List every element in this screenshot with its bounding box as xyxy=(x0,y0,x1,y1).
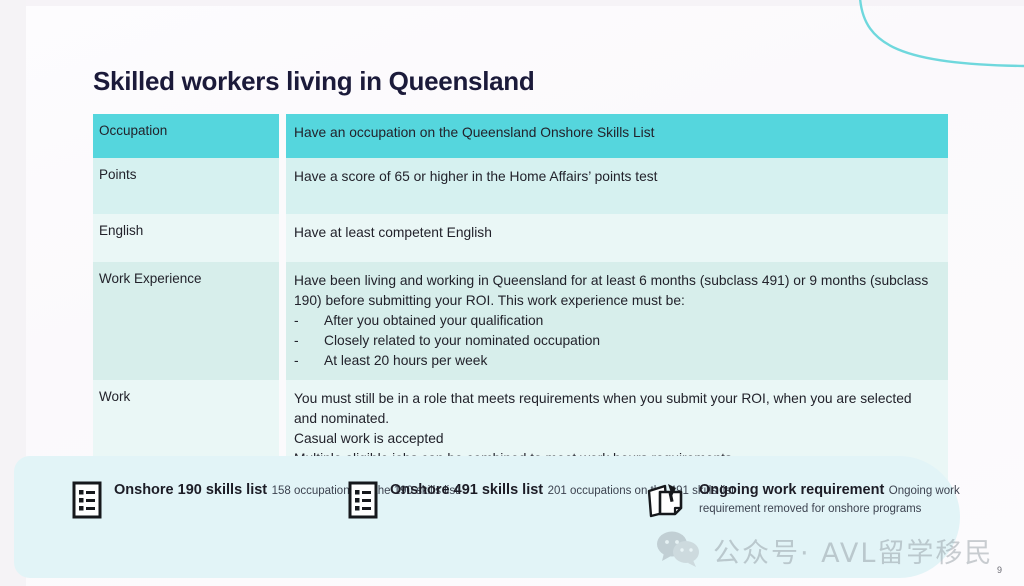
bullet-dash-icon: - xyxy=(294,331,324,351)
row-label: Work Experience xyxy=(93,262,279,380)
value-line: Casual work is accepted xyxy=(294,429,938,449)
value-line: Have an occupation on the Queensland Ons… xyxy=(294,123,938,143)
feature-heading: Onshore 491 skills list xyxy=(390,482,543,498)
table-row: English Have at least competent English xyxy=(93,214,948,262)
pinned-note-icon xyxy=(645,481,687,526)
page-title: Skilled workers living in Queensland xyxy=(93,66,534,97)
column-gap xyxy=(279,114,286,158)
bullet-dash-icon: - xyxy=(294,351,324,371)
row-value: Have been living and working in Queensla… xyxy=(286,262,948,380)
bullet-text: Closely related to your nominated occupa… xyxy=(324,331,600,351)
feature-ongoing-work[interactable]: Ongoing work requirement Ongoing work re… xyxy=(645,481,1024,526)
table-row: Points Have a score of 65 or higher in t… xyxy=(93,158,948,214)
requirements-table: Occupation Have an occupation on the Que… xyxy=(93,114,948,505)
list-item: - After you obtained your qualification xyxy=(294,311,938,331)
value-line: Have at least competent English xyxy=(294,223,938,243)
row-value: Have an occupation on the Queensland Ons… xyxy=(286,114,948,158)
table-row: Work Experience Have been living and wor… xyxy=(93,262,948,380)
row-label: Points xyxy=(93,158,279,214)
row-label: English xyxy=(93,214,279,262)
checklist-icon xyxy=(72,481,102,524)
value-line: Have a score of 65 or higher in the Home… xyxy=(294,167,938,187)
slide-top-edge xyxy=(26,0,1024,6)
bullet-text: After you obtained your qualification xyxy=(324,311,543,331)
column-gap xyxy=(279,262,286,380)
column-gap xyxy=(279,158,286,214)
bullet-dash-icon: - xyxy=(294,311,324,331)
value-line: Have been living and working in Queensla… xyxy=(294,271,938,311)
row-value: Have at least competent English xyxy=(286,214,948,262)
decorative-arc-icon xyxy=(824,0,1024,90)
bullet-text: At least 20 hours per week xyxy=(324,351,487,371)
row-label: Occupation xyxy=(93,114,279,158)
slide-canvas: Skilled workers living in Queensland Occ… xyxy=(0,0,1024,586)
bullet-list: - After you obtained your qualification … xyxy=(294,311,938,371)
page-number: 9 xyxy=(997,565,1002,575)
checklist-icon xyxy=(348,481,378,524)
value-line: You must still be in a role that meets r… xyxy=(294,389,938,429)
table-row: Occupation Have an occupation on the Que… xyxy=(93,114,948,158)
feature-heading: Onshore 190 skills list xyxy=(114,482,267,498)
column-gap xyxy=(279,214,286,262)
list-item: - At least 20 hours per week xyxy=(294,351,938,371)
feature-heading: Ongoing work requirement xyxy=(699,482,884,498)
row-value: Have a score of 65 or higher in the Home… xyxy=(286,158,948,214)
list-item: - Closely related to your nominated occu… xyxy=(294,331,938,351)
